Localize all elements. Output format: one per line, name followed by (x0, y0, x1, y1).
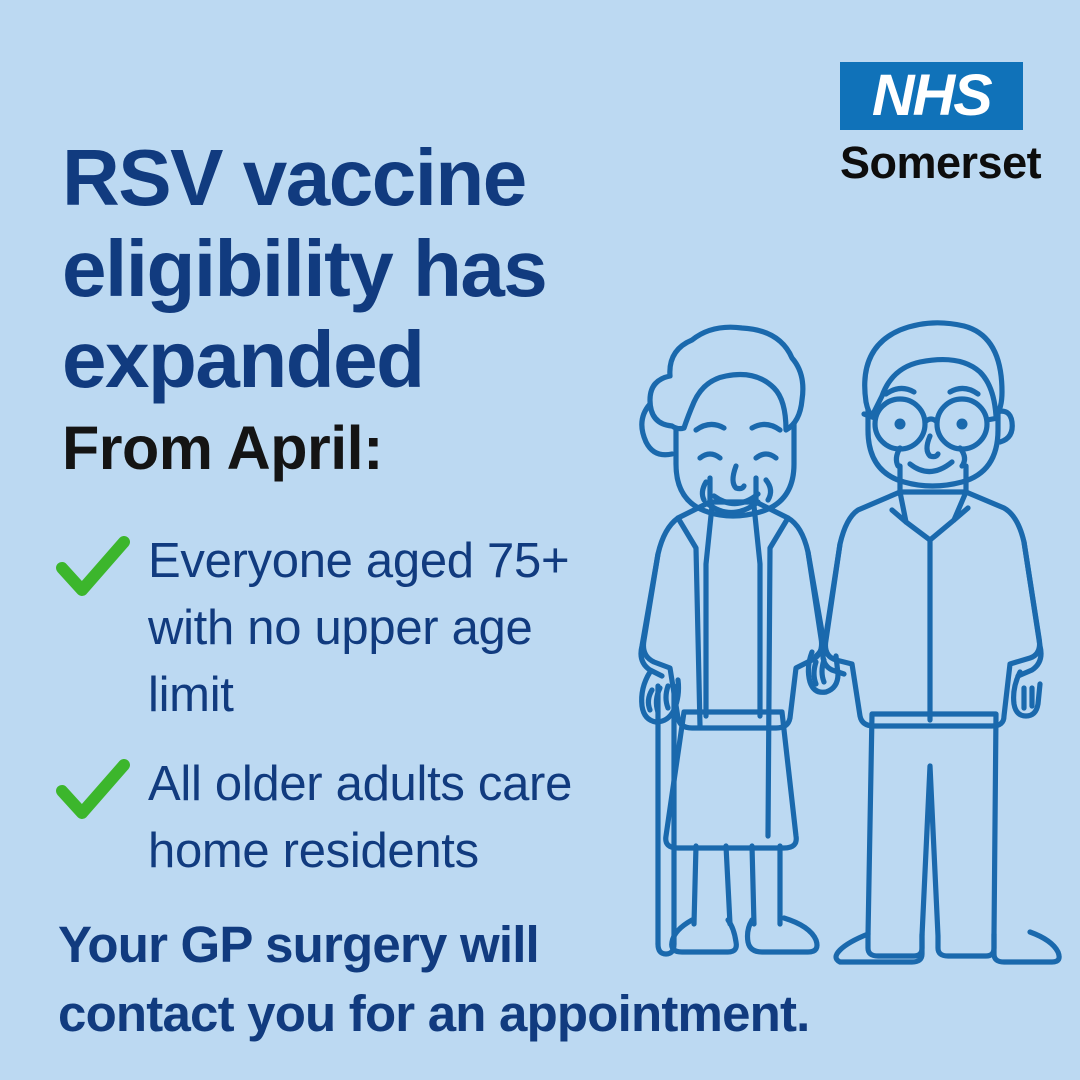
nhs-logo-box: NHS (840, 62, 1023, 130)
list-item: Everyone aged 75+ with no upper age limi… (56, 528, 656, 729)
closing-line-1: Your GP surgery will (58, 910, 898, 979)
closing-line-2: contact you for an appointment. (58, 979, 898, 1048)
page-title: RSV vaccine eligibility has expanded (62, 132, 762, 405)
closing-statement: Your GP surgery will contact you for an … (58, 910, 898, 1048)
nhs-logo: NHS Somerset (840, 62, 1023, 187)
check-icon (56, 536, 130, 598)
nhs-organisation-name: Somerset (840, 139, 1023, 187)
eligibility-list: Everyone aged 75+ with no upper age limi… (56, 528, 656, 907)
headline-line-2: eligibility has (62, 223, 762, 314)
list-item-label: All older adults care home residents (148, 751, 628, 885)
headline-line-3: expanded (62, 314, 762, 405)
headline-line-1: RSV vaccine (62, 132, 762, 223)
list-item: All older adults care home residents (56, 751, 656, 885)
poster-canvas: NHS Somerset RSV vaccine eligibility has… (0, 0, 1080, 1080)
list-item-label: Everyone aged 75+ with no upper age limi… (148, 528, 628, 729)
nhs-wordmark: NHS (872, 67, 991, 125)
subheading-from-april: From April: (62, 415, 383, 481)
check-icon (56, 759, 130, 821)
